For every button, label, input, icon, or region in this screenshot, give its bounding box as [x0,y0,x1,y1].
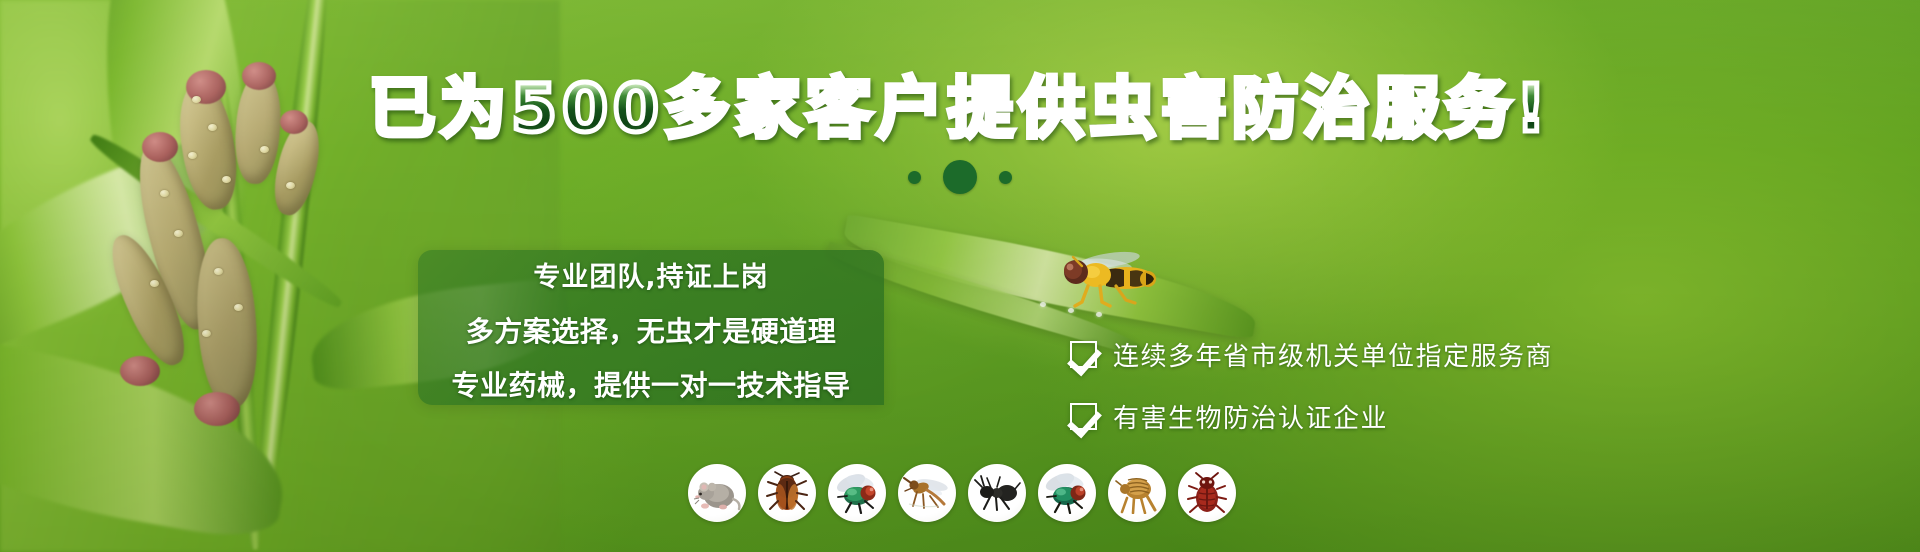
hoverfly-icon [1048,248,1168,310]
mosquito-icon[interactable] [898,464,956,522]
checklist-item: 连续多年省市级机关单位指定服务商 [1070,336,1690,373]
pest-control-banner: 已为500多家客户提供虫害防治服务! 专业团队,持证上岗 多方案选择，无虫才是硬… [0,0,1920,552]
blowfly-icon[interactable] [1038,464,1096,522]
dot-small-right [999,171,1012,184]
checklist-item-label: 有害生物防治认证企业 [1113,398,1388,435]
banner-headline: 已为500多家客户提供虫害防治服务! [0,76,1920,142]
ant-icon[interactable] [968,464,1026,522]
flea-icon[interactable] [1108,464,1166,522]
cockroach-icon[interactable] [758,464,816,522]
rodent-mouse-icon[interactable] [688,464,746,522]
housefly-icon[interactable] [828,464,886,522]
panel-line-2: 多方案选择，无虫才是硬道理 [436,310,866,350]
dot-small-left [908,171,921,184]
bedbug-icon[interactable] [1178,464,1236,522]
selling-points-panel: 专业团队,持证上岗 多方案选择，无虫才是硬道理 专业药械，提供一对一技术指导 [418,250,884,405]
checklist-item: 有害生物防治认证企业 [1070,398,1690,435]
certification-list: 连续多年省市级机关单位指定服务商 有害生物防治认证企业 [1070,336,1690,435]
checklist-item-label: 连续多年省市级机关单位指定服务商 [1113,336,1553,373]
pest-icon-strip [688,464,1236,522]
decorative-dots [0,160,1920,194]
panel-line-1: 专业团队,持证上岗 [436,255,866,294]
checkbox-checked-icon [1070,403,1097,430]
panel-line-3: 专业药械，提供一对一技术指导 [436,364,866,404]
dot-large-center [943,160,977,194]
checkbox-checked-icon [1070,341,1097,368]
